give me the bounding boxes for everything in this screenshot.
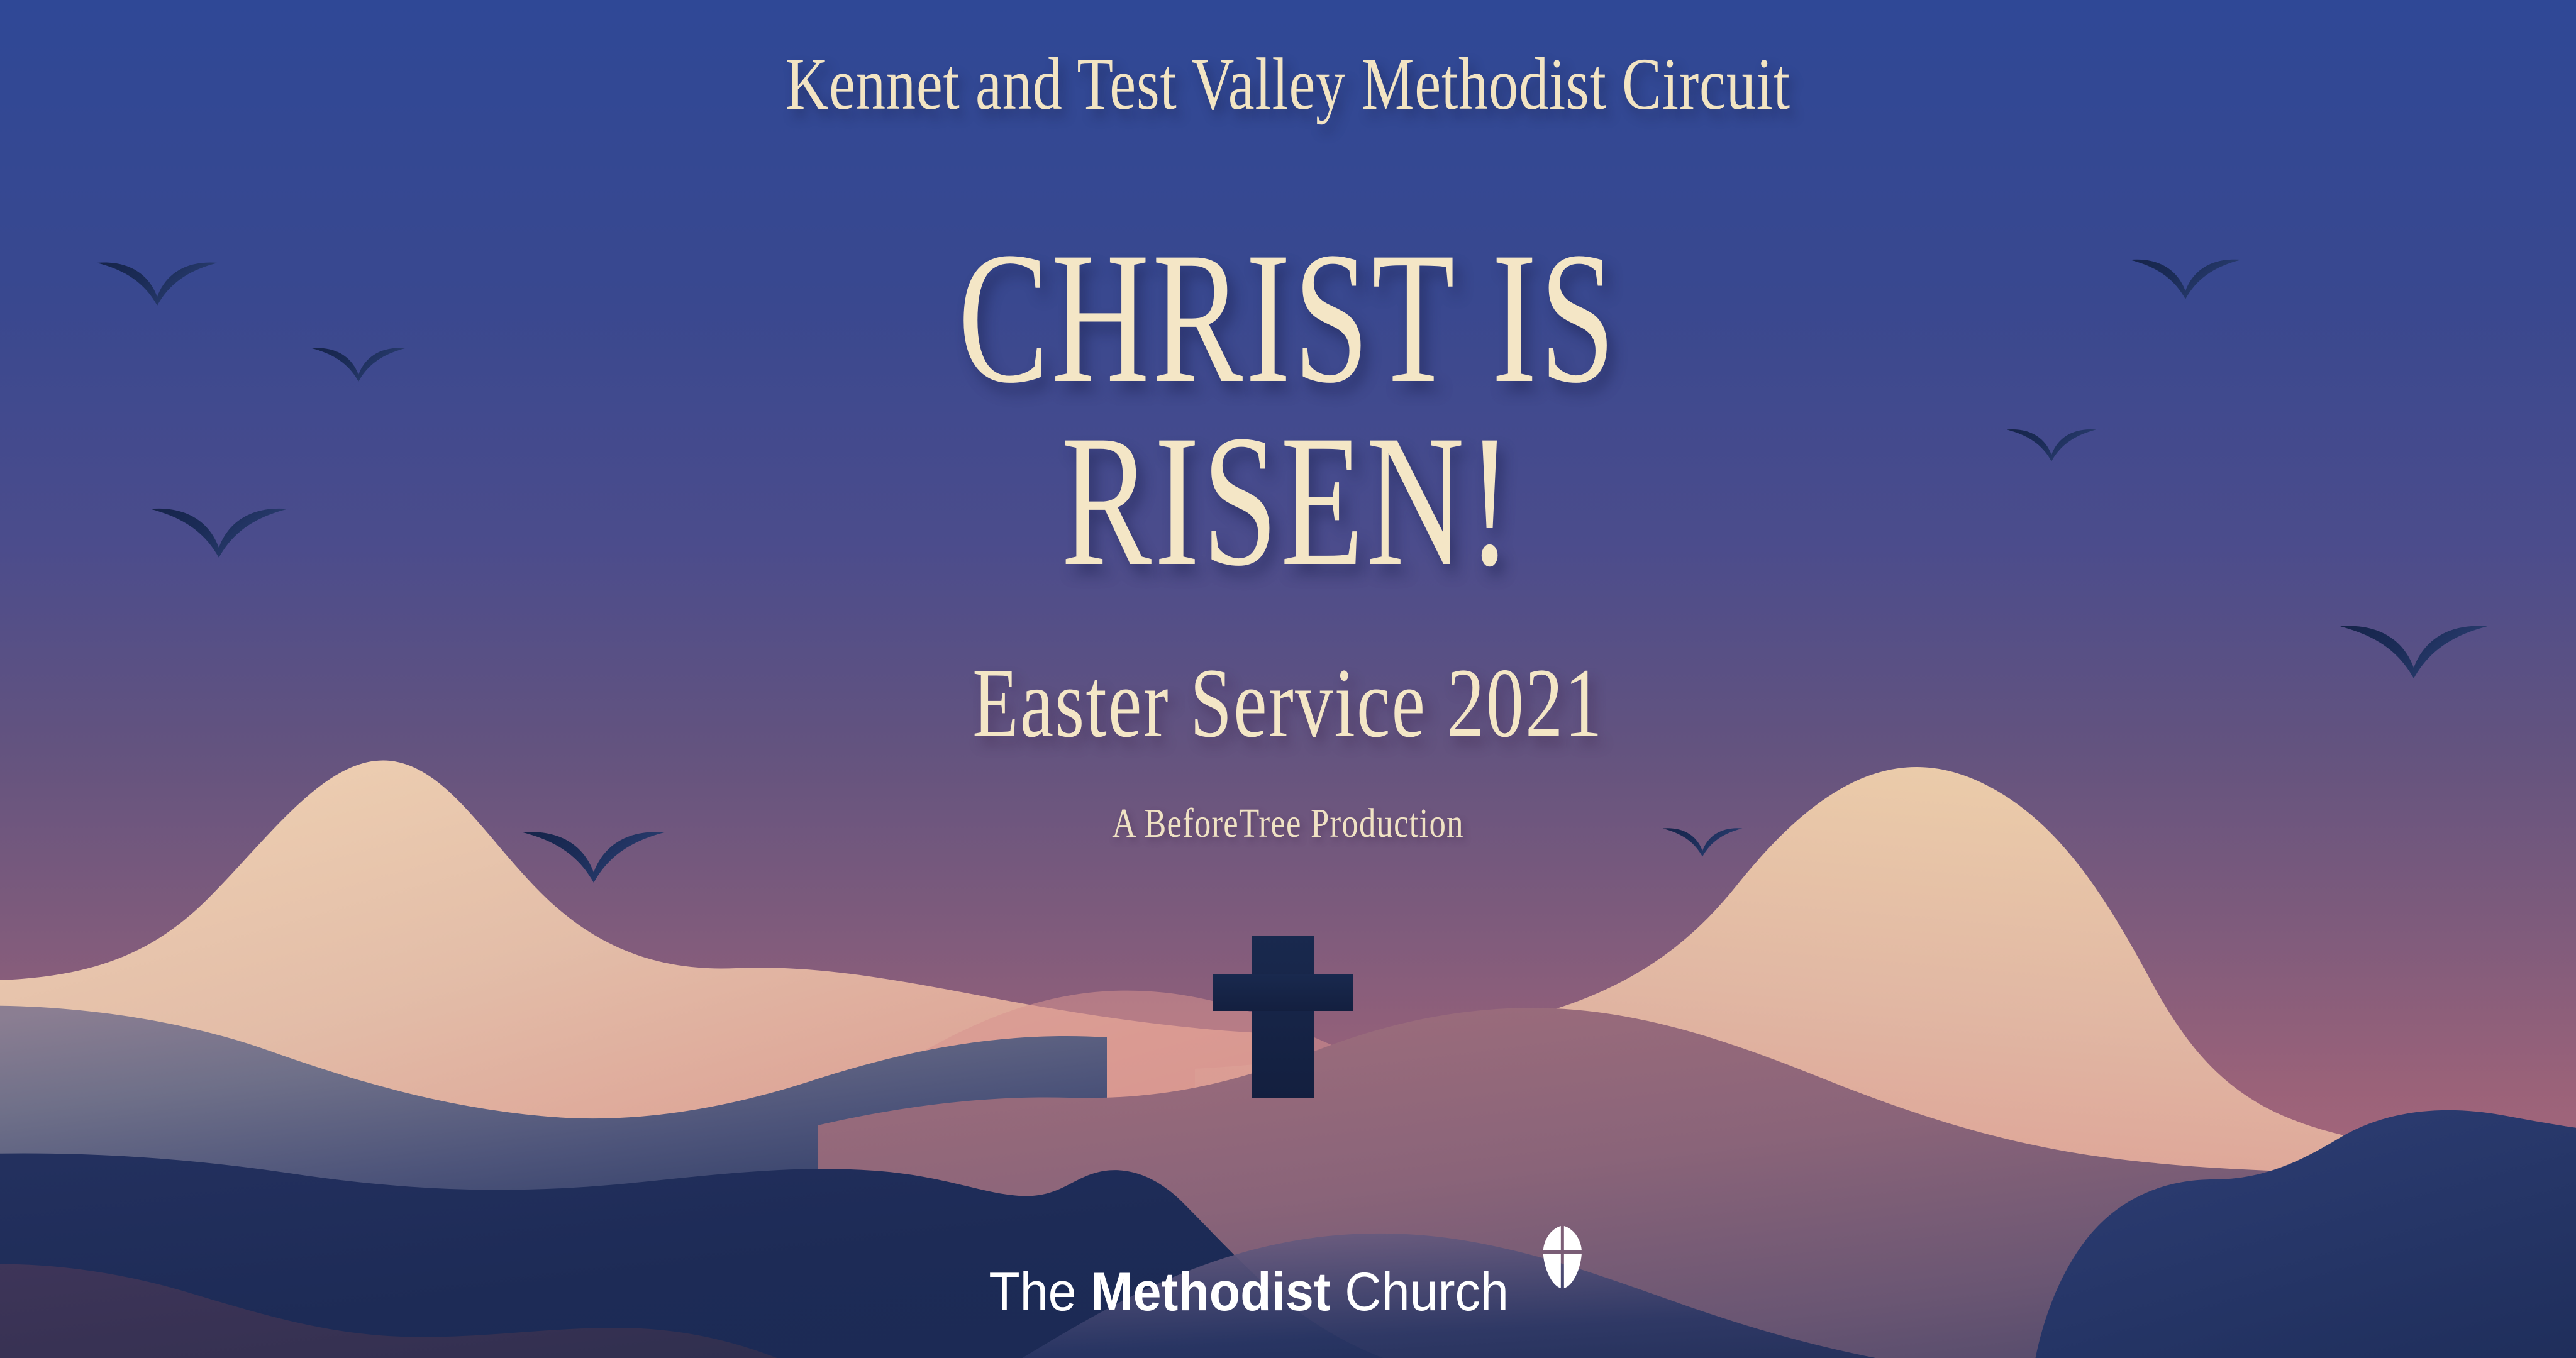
easter-title-card: Kennet and Test Valley Methodist Circuit… xyxy=(0,0,2576,1358)
circuit-name: Kennet and Test Valley Methodist Circuit xyxy=(258,45,2319,123)
methodist-wordmark: The Methodist Church xyxy=(989,1265,1509,1319)
event-subtitle: Easter Service 2021 xyxy=(309,654,2267,753)
production-credit: A BeforeTree Production xyxy=(258,800,2319,847)
headline-line-2: RISEN! xyxy=(360,409,2215,592)
methodist-cross-oval-icon xyxy=(1538,1225,1587,1290)
methodist-church-logo: The Methodist Church xyxy=(989,1225,1587,1319)
headline-line-1: CHRIST IS xyxy=(360,226,2215,409)
logo-word-the: The xyxy=(989,1262,1091,1322)
logo-word-church: Church xyxy=(1331,1262,1509,1322)
page-title: CHRIST IS RISEN! xyxy=(360,226,2215,592)
logo-word-methodist: Methodist xyxy=(1091,1262,1331,1322)
